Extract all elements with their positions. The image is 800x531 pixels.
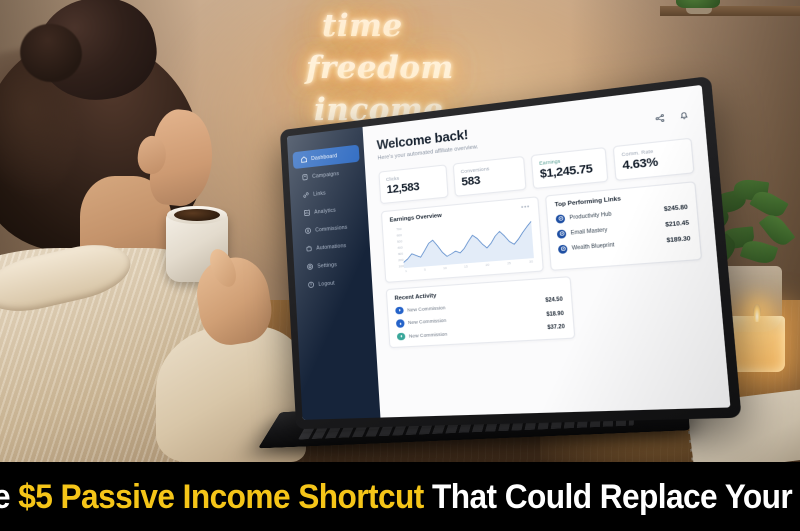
neon-line-1: time	[322, 8, 520, 44]
gear-icon	[306, 263, 313, 271]
sidebar-item-label: Analytics	[314, 207, 336, 215]
share-icon[interactable]	[654, 108, 666, 129]
laptop-lid: Dashboard Campaigns Links Analytics	[280, 76, 742, 429]
activity-value: $18.90	[546, 310, 564, 318]
commission-icon	[396, 319, 404, 327]
earnings-chart: 700 600 500 400 300 200 100	[390, 215, 534, 275]
headline-banner: The $5 Passive Income Shortcut That Coul…	[0, 462, 800, 531]
candle	[729, 316, 785, 372]
activity-text: New Commission	[407, 305, 446, 313]
more-options-icon[interactable]: •••	[521, 204, 530, 211]
stat-card[interactable]: Clicks 12,583	[378, 164, 448, 204]
y-tick: 300	[392, 251, 404, 256]
photo-scene: time freedom income	[0, 0, 800, 462]
stat-card[interactable]: Earnings $1,245.75	[531, 146, 609, 188]
link-icon	[558, 244, 568, 253]
link-name: Productivity Hub	[569, 211, 612, 221]
headline-highlight: $5 Passive Income Shortcut	[18, 478, 424, 516]
commission-icon	[395, 306, 403, 314]
chart-plot-area: 1 5 10 15 20 25 30	[401, 215, 534, 274]
headline-text: The $5 Passive Income Shortcut That Coul…	[0, 480, 800, 514]
headline-part-1: The	[0, 478, 18, 516]
bell-icon[interactable]	[678, 105, 691, 126]
logout-icon	[308, 281, 315, 289]
sidebar-item-logout[interactable]: Logout	[300, 272, 368, 294]
sidebar-item-label: Dashboard	[311, 153, 337, 162]
header-icon-group	[653, 101, 690, 129]
card-title: Earnings Overview	[389, 212, 442, 223]
sidebar-item-label: Links	[313, 190, 326, 197]
y-tick: 400	[391, 245, 403, 250]
coffee-surface	[174, 209, 220, 221]
sidebar-item-label: Settings	[317, 262, 337, 270]
top-performing-links-card: Top Performing Links Productivity Hub $2…	[545, 181, 702, 271]
activity-text: New Commission	[408, 318, 447, 326]
link-name: Wealth Blueprint	[572, 241, 615, 251]
activity-value: $37.20	[547, 324, 565, 332]
stat-card[interactable]: Conversions 583	[453, 155, 527, 196]
x-tick: 25	[507, 260, 511, 265]
list-item[interactable]: Wealth Blueprint $189.30	[558, 234, 691, 253]
sidebar-item-label: Campaigns	[312, 170, 339, 179]
sidebar-item-label: Commissions	[315, 224, 347, 233]
recent-activity-card: Recent Activity New Commission $24.50	[386, 276, 575, 349]
activity-value: $24.50	[545, 297, 563, 305]
x-tick: 10	[443, 265, 447, 269]
y-tick: 600	[390, 233, 402, 238]
link-value: $210.45	[665, 220, 689, 229]
commission-icon	[397, 332, 405, 340]
chart-icon	[303, 209, 310, 217]
y-tick: 200	[392, 257, 404, 262]
dollar-icon	[304, 227, 311, 235]
link-value: $189.30	[666, 235, 690, 244]
y-tick: 100	[392, 263, 404, 268]
robot-icon	[305, 245, 312, 253]
y-tick: 500	[391, 239, 403, 244]
sidebar-item-label: Automations	[316, 243, 346, 252]
candle-flame	[753, 304, 761, 322]
shelf-plant	[676, 0, 720, 8]
home-icon	[300, 156, 307, 164]
x-tick: 15	[464, 264, 468, 268]
screenshot-stage: time freedom income	[0, 0, 800, 531]
x-tick: 20	[485, 262, 489, 267]
laptop-screen: Dashboard Campaigns Links Analytics	[287, 85, 731, 420]
x-tick: 5	[424, 267, 426, 271]
earnings-overview-card: Earnings Overview ••• 700 600 500 400	[381, 196, 544, 283]
x-tick: 30	[529, 259, 533, 264]
laptop: Dashboard Campaigns Links Analytics	[288, 128, 688, 448]
megaphone-icon	[301, 173, 308, 181]
stat-card[interactable]: Comm. Rate 4.63%	[613, 137, 695, 180]
y-tick: 700	[390, 226, 402, 231]
headline-part-2: That Could Replace Your 9-5	[424, 478, 800, 516]
x-tick: 1	[405, 268, 407, 272]
link-icon	[556, 214, 566, 223]
activity-text: New Commission	[409, 331, 448, 338]
dashboard-main: Welcome back! Here's your automated affi…	[363, 85, 731, 418]
link-icon	[557, 229, 567, 238]
woman-figure	[0, 0, 290, 462]
link-icon	[302, 191, 309, 199]
link-name: Email Mastery	[570, 226, 607, 236]
sidebar-item-label: Logout	[318, 280, 335, 287]
neon-line-2: freedom	[306, 50, 520, 86]
link-value: $245.80	[664, 204, 688, 213]
